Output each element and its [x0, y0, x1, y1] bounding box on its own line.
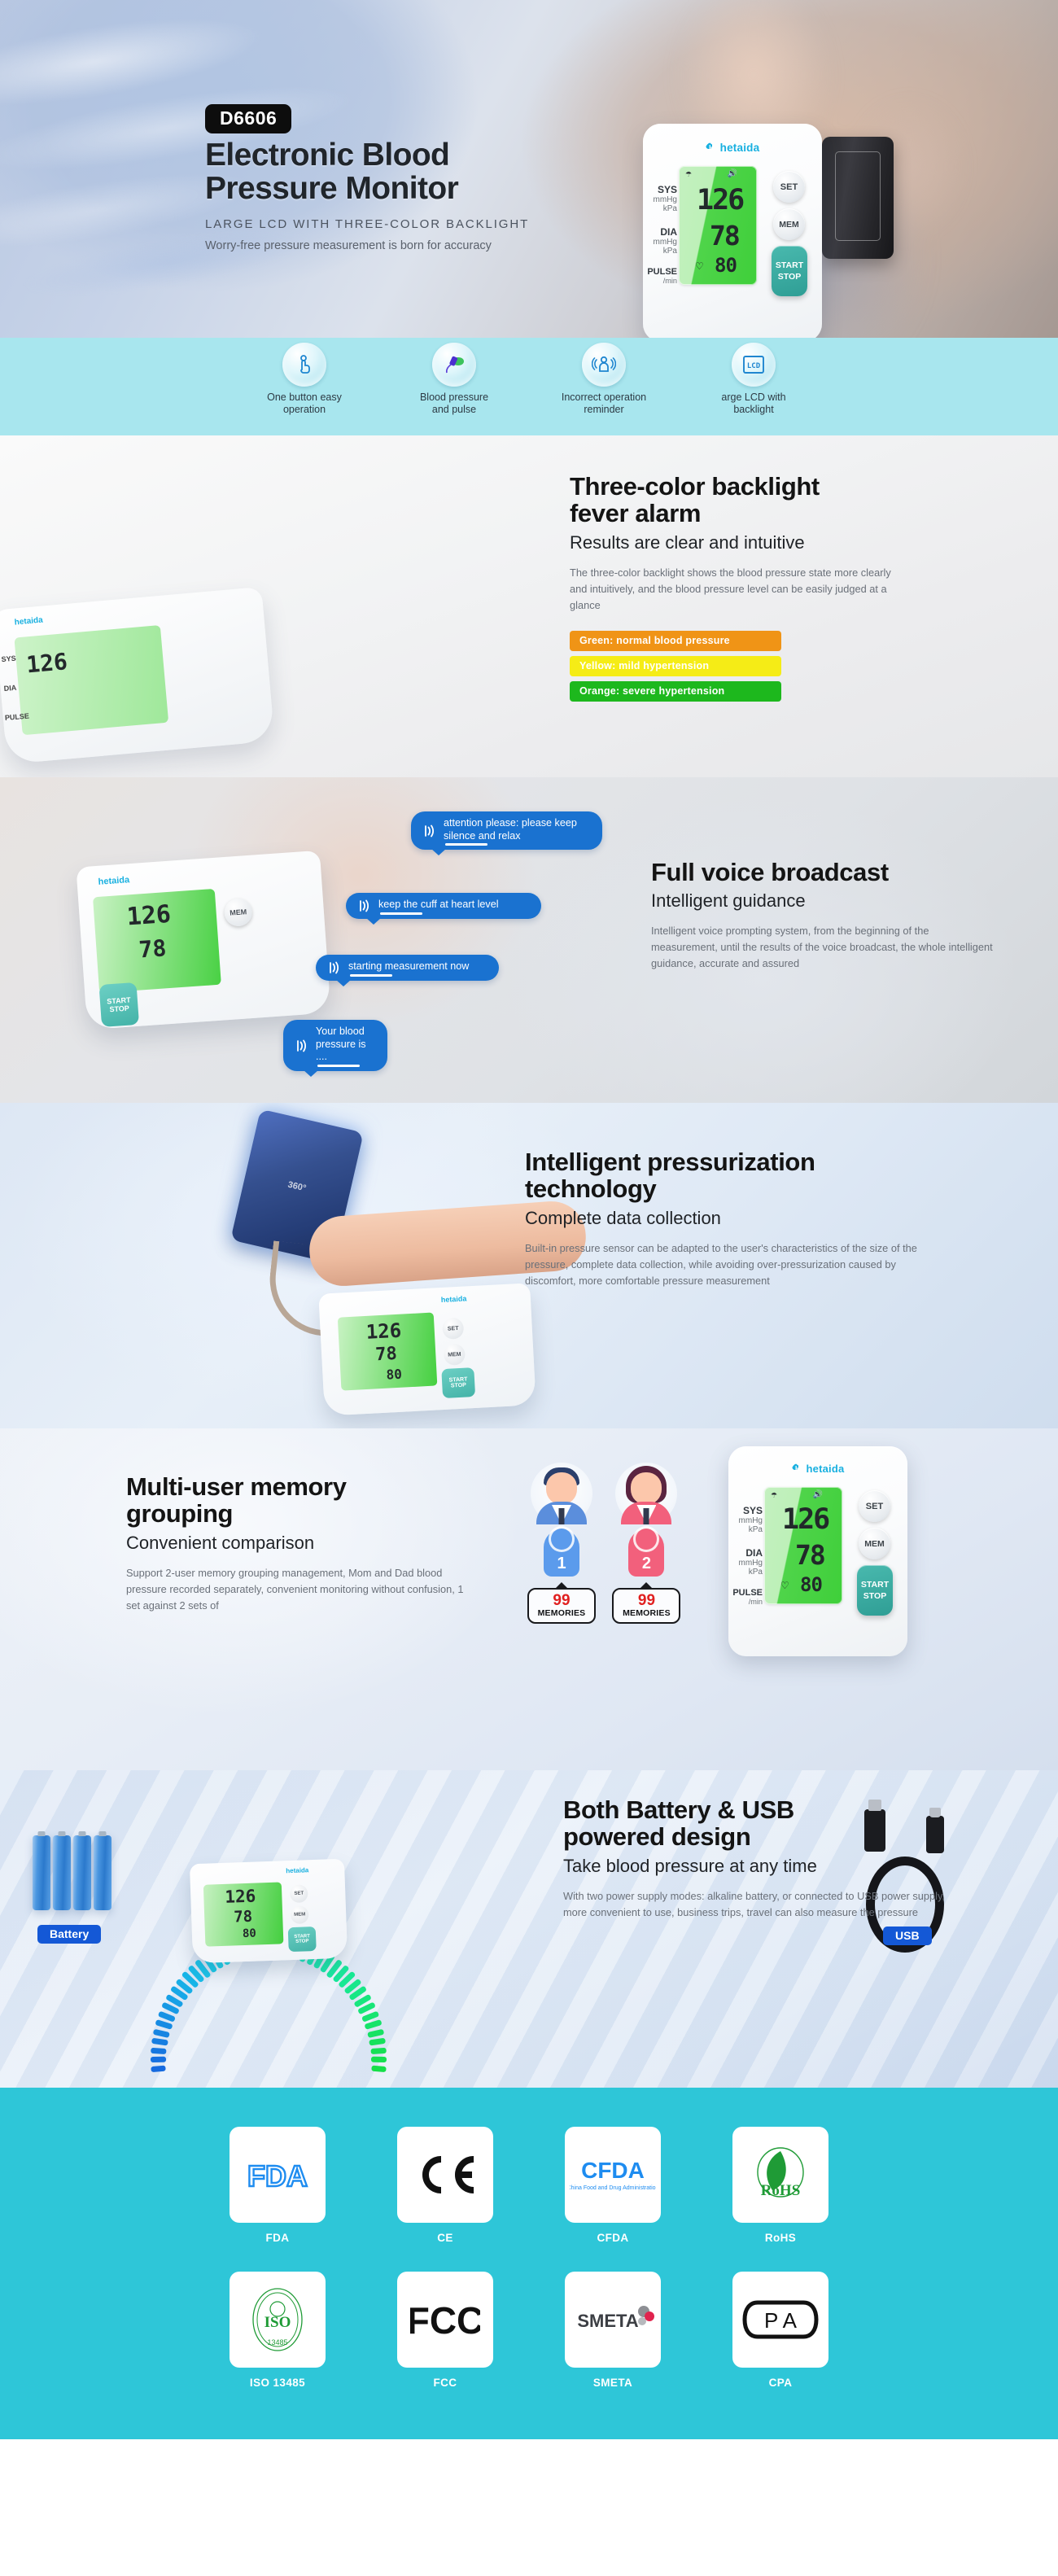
section-subtitle: Intelligent guidance	[651, 890, 1001, 912]
certification-ce: CE	[397, 2127, 493, 2244]
battery-pack-image	[33, 1835, 111, 1910]
gauge-tick	[153, 2028, 170, 2037]
title-line2: fever alarm	[570, 500, 952, 527]
base-lcd: 126	[14, 625, 168, 735]
voice-copy: Full voice broadcast Intelligent guidanc…	[651, 859, 1001, 972]
hero-subtitle: LARGE LCD WITH THREE-COLOR BACKLIGHT	[205, 217, 596, 231]
sys-label: SYSmmHgkPa	[730, 1505, 763, 1534]
cert-label: CFDA	[565, 2232, 661, 2244]
cuff-360-label: 360°	[244, 1170, 349, 1203]
rohs-logo-icon: RoHS	[732, 2127, 828, 2223]
dia-label: DIA mmHgkPa	[645, 226, 677, 256]
cert-label: FDA	[230, 2232, 326, 2244]
voice-broadcast-section: hetaida 126 78 MEM START STOP attention …	[0, 777, 1058, 1103]
brand-name: hetaida	[720, 142, 760, 154]
title-line1: Both Battery & USB	[563, 1796, 986, 1823]
bubble-tail	[431, 848, 447, 855]
section-title: Multi-user memory grouping	[126, 1473, 492, 1528]
svg-text:FDA: FDA	[247, 2159, 308, 2193]
blood-pressure-monitor-device: Hhetaida SYS mmHgkPa DIA mmHgkPa PULSE /…	[643, 124, 822, 338]
certification-row-2: ISO13485 ISO 13485 FCC FCC SMETA SMETA P…	[0, 2272, 1058, 2389]
section-subtitle: Convenient comparison	[126, 1533, 492, 1554]
title-line1: Intelligent pressurization	[525, 1148, 981, 1175]
start-stop-button[interactable]: START STOP	[288, 1927, 317, 1952]
section-body: Support 2-user memory grouping managemen…	[126, 1565, 468, 1613]
lcd-display: ☂ 🔊 126 78 ♡ 80	[764, 1487, 842, 1604]
stop-label: STOP	[778, 271, 801, 282]
svg-text:P A: P A	[764, 2308, 798, 2333]
start-stop-button[interactable]: START STOP	[857, 1565, 893, 1616]
voice-bubble-text: starting measurement now	[348, 960, 469, 972]
user-avatar-1: 1 99 MEMORIES	[521, 1463, 602, 1624]
memory-chip-1: 99 MEMORIES	[527, 1588, 596, 1624]
heart-logo-icon: H	[706, 142, 718, 153]
title-line2: grouping	[126, 1500, 492, 1527]
feature-label: arge LCD with backlight	[689, 391, 819, 416]
bubble-tail	[303, 1069, 319, 1077]
title-line2: powered design	[563, 1823, 986, 1850]
battery-cell	[33, 1835, 50, 1910]
section-title: Three-color backlight fever alarm	[570, 473, 952, 527]
svg-text:13485: 13485	[267, 2338, 287, 2346]
set-button[interactable]: SET	[290, 1884, 308, 1903]
memory-count: 99	[614, 1593, 679, 1608]
stop-label: STOP	[863, 1590, 886, 1602]
sound-wave-icon	[326, 960, 341, 975]
sound-wave-icon	[294, 1039, 308, 1053]
gauge-tick	[371, 2066, 387, 2073]
three-color-copy: Three-color backlight fever alarm Result…	[570, 473, 952, 706]
start-stop-button[interactable]: START STOP	[99, 982, 140, 1027]
incorrect-operation-person-icon	[582, 343, 626, 387]
pressurization-copy: Intelligent pressurization technology Co…	[525, 1148, 981, 1288]
pressurization-section: 360° hetaida 126 78 80 SET MEM START STO…	[0, 1103, 1058, 1428]
hero-title-line1: Electronic Blood	[205, 139, 596, 173]
battery-label: Battery	[37, 1925, 101, 1944]
bubble-underline	[350, 974, 392, 977]
avatar-tie	[559, 1508, 565, 1524]
certification-cpa: P A CPA	[732, 2272, 828, 2389]
cert-label: RoHS	[732, 2232, 828, 2244]
voice-bubble-4: Your blood pressure is ....	[283, 1020, 387, 1071]
gauge-tick	[370, 2048, 387, 2054]
brand-logo: Hhetaida	[728, 1463, 907, 1475]
certification-fcc: FCC FCC	[397, 2272, 493, 2389]
badge-green-normal: Green: normal blood pressure	[570, 631, 781, 651]
one-touch-hand-icon	[282, 343, 326, 387]
mem-button[interactable]: MEM	[859, 1528, 890, 1559]
product-detail-page: D6606 Electronic Blood Pressure Monitor …	[0, 0, 1058, 2439]
heartbeat-icon: ♡	[780, 1580, 789, 1591]
voice-bubble-text: keep the cuff at heart level	[378, 899, 499, 910]
cert-label: CE	[397, 2232, 493, 2244]
bubble-underline	[380, 912, 422, 915]
title-line1: Multi-user memory	[126, 1473, 492, 1500]
avatar	[615, 1463, 677, 1524]
voice-bubble-text: Your blood pressure is ....	[316, 1026, 366, 1062]
svg-text:SMETA: SMETA	[577, 2311, 638, 2331]
monitor-image: hetaida 126 78 80 SET MEM START STOP	[318, 1283, 536, 1415]
speaker-icon: 🔊	[813, 1490, 823, 1499]
dia-reading: 78	[795, 1539, 824, 1571]
memory-label: MEMORIES	[614, 1608, 679, 1618]
feature-label: Incorrect operation reminder	[539, 391, 669, 416]
ce-logo-icon	[397, 2127, 493, 2223]
pulse-reading: 80	[386, 1367, 402, 1383]
memory-label: MEMORIES	[529, 1608, 594, 1618]
dia-reading: 78	[710, 220, 739, 251]
user-icon: ☂	[685, 170, 692, 179]
hero-tagline: Worry-free pressure measurement is born …	[205, 239, 596, 252]
avatar-face	[631, 1472, 662, 1505]
brand-name: hetaida	[807, 1463, 845, 1475]
heartbeat-icon: ♡	[695, 260, 704, 272]
certification-smeta: SMETA SMETA	[565, 2272, 661, 2389]
user-avatars-group: 1 99 MEMORIES 2 99	[521, 1463, 700, 1624]
voice-bubble-text: attention please: please keep silence an…	[444, 817, 577, 842]
title-line2: technology	[525, 1175, 981, 1202]
set-button[interactable]: SET	[773, 171, 805, 203]
power-supply-section: Battery hetaida 126 78 80 SET MEM START …	[0, 1770, 1058, 2088]
svg-text:LCD: LCD	[747, 362, 761, 370]
model-badge: D6606	[205, 104, 291, 133]
hero-banner: D6606 Electronic Blood Pressure Monitor …	[0, 0, 1058, 338]
monitor-image: hetaida 126 78 80 SET MEM START STOP	[190, 1859, 348, 1964]
hero-title-line2: Pressure Monitor	[205, 173, 596, 206]
fda-logo-icon: FDA	[230, 2127, 326, 2223]
feature-item: LCD arge LCD with backlight	[689, 343, 819, 416]
section-subtitle: Take blood pressure at any time	[563, 1856, 986, 1877]
voice-bubble-3: starting measurement now	[316, 955, 499, 981]
section-title: Intelligent pressurization technology	[525, 1148, 981, 1203]
certification-cfda: CFDAChina Food and Drug Administration C…	[565, 2127, 661, 2244]
sys-reading: 126	[225, 1887, 256, 1907]
power-copy: Both Battery & USB powered design Take b…	[563, 1796, 986, 1921]
user-number: 1	[557, 1555, 566, 1573]
avatar-tie	[644, 1508, 649, 1524]
blood-pressure-monitor-device: Hhetaida SYSmmHgkPa DIAmmHgkPa PULSE/min…	[728, 1446, 907, 1656]
sound-wave-icon	[356, 899, 371, 913]
section-subtitle: Results are clear and intuitive	[570, 532, 952, 553]
lcd-screen-icon: LCD	[732, 343, 776, 387]
bubble-tail	[335, 979, 352, 986]
pulse-reading: 80	[715, 254, 737, 277]
sys-reading: 126	[365, 1319, 402, 1344]
section-body: Intelligent voice prompting system, from…	[651, 923, 993, 971]
page-title: Electronic Blood Pressure Monitor	[205, 139, 596, 205]
multiuser-copy: Multi-user memory grouping Convenient co…	[126, 1473, 492, 1613]
cert-label: FCC	[397, 2377, 493, 2389]
gauge-tick	[367, 2028, 384, 2037]
pulse-reading: 80	[800, 1573, 822, 1596]
lcd-display: ☂ 🔊 126 78 ♡ 80	[679, 166, 757, 285]
brand-logo: hetaida	[98, 875, 129, 887]
gauge-tick	[371, 2057, 387, 2062]
cfda-logo-icon: CFDAChina Food and Drug Administration	[565, 2127, 661, 2223]
gauge-tick	[365, 2019, 383, 2030]
dia-reading: 78	[375, 1344, 398, 1365]
pulse-reading: 80	[243, 1927, 256, 1941]
svg-text:ISO: ISO	[264, 2314, 291, 2331]
battery-cell	[53, 1835, 71, 1910]
base-sys-reading: 126	[25, 648, 68, 678]
user-number-pin-1: 1	[544, 1529, 579, 1577]
avatar	[531, 1463, 592, 1524]
lcd-display: 126 78 80	[203, 1882, 284, 1946]
start-label: START	[776, 260, 803, 271]
user-icon: ☂	[771, 1491, 777, 1500]
section-subtitle: Complete data collection	[525, 1208, 981, 1229]
bubble-tail	[365, 917, 382, 925]
dia-reading: 78	[138, 934, 167, 963]
svg-text:China Food and Drug Administra: China Food and Drug Administration	[570, 2185, 656, 2191]
bubble-underline	[445, 843, 487, 846]
cert-label: SMETA	[565, 2377, 661, 2389]
stop-label: STOP	[451, 1383, 466, 1389]
cert-label: CPA	[732, 2377, 828, 2389]
cuff-pulse-icon	[432, 343, 476, 387]
sys-reading: 126	[126, 900, 172, 932]
set-button[interactable]: SET	[442, 1318, 464, 1340]
mem-button[interactable]: MEM	[291, 1905, 309, 1924]
gauge-tick	[151, 2066, 166, 2073]
battery-cell	[94, 1835, 111, 1910]
voice-bubble-2: keep the cuff at heart level	[346, 893, 541, 919]
start-stop-button[interactable]: START STOP	[441, 1367, 475, 1398]
brand-logo: hetaida	[441, 1294, 467, 1304]
color-legend-badges: Green: normal blood pressure Yellow: mil…	[570, 631, 952, 702]
sys-label: SYS mmHgkPa	[645, 184, 677, 213]
arm-cuff-product-image	[822, 137, 894, 259]
feature-item: Blood pressure and pulse	[389, 343, 519, 416]
battery-cell	[73, 1835, 91, 1910]
certifications-section: FDA FDA CE CFDAChina Food and Drug Admin…	[0, 2088, 1058, 2439]
stop-label: STOP	[109, 1004, 129, 1014]
section-body: Built-in pressure sensor can be adapted …	[525, 1240, 932, 1288]
voice-bubble-1: attention please: please keep silence an…	[411, 811, 602, 850]
monitor-image: hetaida 126 78 MEM START STOP	[76, 851, 330, 1030]
mem-button[interactable]: MEM	[444, 1344, 466, 1366]
cert-label: ISO 13485	[230, 2377, 326, 2389]
monitor-base-image: hetaida 126 SYS DIA PULSE	[0, 587, 275, 764]
usb-label: USB	[883, 1927, 932, 1945]
certification-fda: FDA FDA	[230, 2127, 326, 2244]
start-stop-button[interactable]: START STOP	[772, 246, 807, 296]
feature-label: One button easy operation	[239, 391, 369, 416]
svg-text:CFDA: CFDA	[581, 2158, 645, 2183]
pulse-label: PULSE /min	[641, 267, 677, 285]
sys-label: SYS	[1, 654, 16, 664]
title-line1: Three-color backlight	[570, 473, 952, 500]
heart-logo-icon: H	[792, 1463, 804, 1474]
user-number: 2	[642, 1555, 651, 1573]
sys-reading: 126	[697, 184, 743, 216]
cpa-logo-icon: P A	[732, 2272, 828, 2368]
mem-button[interactable]: MEM	[224, 898, 253, 927]
three-color-backlight-section: hetaida 126 SYS DIA PULSE 126 78 ☂ 136 8…	[0, 435, 1058, 777]
pulse-label: PULSE/min	[727, 1588, 763, 1606]
dia-reading: 78	[234, 1908, 253, 1927]
feature-label: Blood pressure and pulse	[389, 391, 519, 416]
brand-logo: hetaida	[286, 1866, 308, 1874]
certification-row-1: FDA FDA CE CFDAChina Food and Drug Admin…	[0, 2127, 1058, 2244]
lcd-display: 126 78	[93, 889, 221, 993]
dia-label: DIA	[3, 684, 16, 693]
smeta-logo-icon: SMETA	[565, 2272, 661, 2368]
stop-label: STOP	[295, 1939, 308, 1944]
avatar-face	[546, 1472, 577, 1505]
user-number-pin-2: 2	[628, 1529, 664, 1577]
feature-icons-strip: One button easy operation Blood pressure…	[0, 338, 1058, 435]
mem-button[interactable]: MEM	[773, 208, 805, 240]
feature-item: One button easy operation	[239, 343, 369, 416]
speaker-icon: 🔊	[728, 169, 737, 178]
user-avatar-2: 2 99 MEMORIES	[606, 1463, 687, 1624]
bubble-underline	[317, 1065, 360, 1067]
multiuser-memory-section: Multi-user memory grouping Convenient co…	[0, 1428, 1058, 1770]
iso-logo-icon: ISO13485	[230, 2272, 326, 2368]
svg-text:RoHS: RoHS	[761, 2182, 801, 2199]
section-title: Full voice broadcast	[651, 859, 1001, 886]
brand-logo: hetaida	[14, 616, 43, 628]
memory-chip-2: 99 MEMORIES	[612, 1588, 680, 1624]
gauge-tick	[151, 2048, 167, 2054]
dia-label: DIAmmHgkPa	[730, 1547, 763, 1577]
section-body: With two power supply modes: alkaline ba…	[563, 1888, 970, 1921]
gauge-tick	[369, 2038, 386, 2046]
svg-text:FCC: FCC	[410, 2299, 480, 2342]
sound-wave-icon	[422, 824, 436, 838]
certification-iso: ISO13485 ISO 13485	[230, 2272, 326, 2389]
certification-rohs: RoHS RoHS	[732, 2127, 828, 2244]
sys-reading: 126	[782, 1503, 828, 1536]
feature-item: Incorrect operation reminder	[539, 343, 669, 416]
gauge-tick	[151, 2057, 166, 2062]
section-body: The three-color backlight shows the bloo…	[570, 565, 907, 613]
fcc-logo-icon: FCC	[397, 2272, 493, 2368]
gauge-tick	[151, 2038, 168, 2046]
set-button[interactable]: SET	[859, 1490, 890, 1522]
start-label: START	[861, 1579, 889, 1590]
badge-yellow-mild: Yellow: mild hypertension	[570, 656, 781, 676]
memory-count: 99	[529, 1593, 594, 1608]
section-title: Both Battery & USB powered design	[563, 1796, 986, 1851]
lcd-display: 126 78 80	[338, 1313, 438, 1391]
brand-logo: Hhetaida	[643, 142, 822, 154]
hero-text-block: D6606 Electronic Blood Pressure Monitor …	[205, 104, 596, 252]
badge-orange-severe: Orange: severe hypertension	[570, 681, 781, 702]
